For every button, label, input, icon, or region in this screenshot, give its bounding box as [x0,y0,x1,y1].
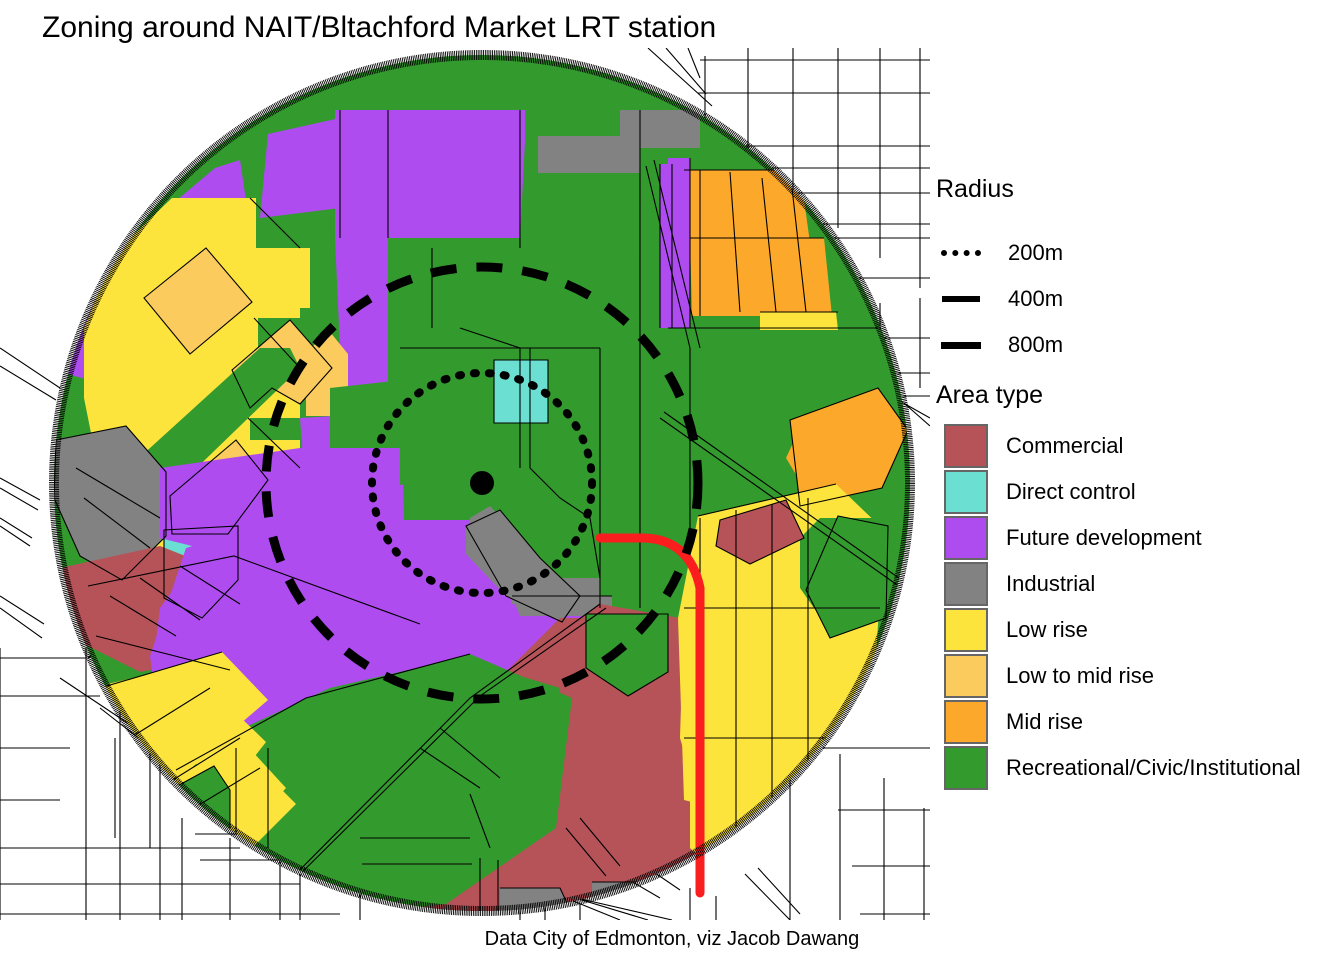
legend-item-low-to-mid-rise[interactable]: Low to mid rise [930,653,1154,699]
legend-item-industrial[interactable]: Industrial [930,561,1095,607]
legend-label-mid-rise: Mid rise [1006,709,1083,735]
swatch-commercial [944,424,988,468]
swatch-mid-rise [944,700,988,744]
zone-directcontrol-center [494,360,548,423]
zone-lowrise-ne-strip [760,312,838,330]
swatch-low-to-mid-rise [944,654,988,698]
zone-industrial-ne [620,110,700,148]
radius-key-400m-icon [930,276,992,322]
legend-item-recreational[interactable]: Recreational/Civic/Institutional [930,745,1301,791]
zone-future-ne2 [660,164,672,328]
swatch-direct-control [944,470,988,514]
legend-label-future-development: Future development [1006,525,1202,551]
swatch-industrial [944,562,988,606]
source-caption: Data City of Edmonton, viz Jacob Dawang [0,928,1344,951]
swatch-recreational [944,746,988,790]
legend-item-low-rise[interactable]: Low rise [930,607,1088,653]
legend-label-radius-200m: 200m [1008,240,1063,266]
legend-label-radius-400m: 400m [1008,286,1063,312]
swatch-future-development [944,516,988,560]
legend-item-direct-control[interactable]: Direct control [930,469,1136,515]
zone-midrise-ne3 [690,238,832,316]
radius-key-800m-icon [930,322,992,368]
legend-item-radius-200m[interactable]: 200m [930,230,1063,276]
map-canvas[interactable] [0,48,930,920]
legend-label-industrial: Industrial [1006,571,1095,597]
legend-item-commercial[interactable]: Commercial [930,423,1123,469]
legend-item-radius-800m[interactable]: 800m [930,322,1063,368]
legend-title-radius: Radius [936,175,1014,204]
legend-item-future-development[interactable]: Future development [930,515,1202,561]
legend-label-low-rise: Low rise [1006,617,1088,643]
page-title: Zoning around NAIT/Bltachford Market LRT… [42,11,716,45]
legend-label-recreational: Recreational/Civic/Institutional [1006,755,1301,781]
legend-label-commercial: Commercial [1006,433,1123,459]
legend-item-radius-400m[interactable]: 400m [930,276,1063,322]
swatch-low-rise [944,608,988,652]
legend-label-low-to-mid-rise: Low to mid rise [1006,663,1154,689]
legend-item-mid-rise[interactable]: Mid rise [930,699,1083,745]
legend-label-direct-control: Direct control [1006,479,1136,505]
legend-title-area-type: Area type [936,381,1043,410]
radius-key-200m-icon [930,230,992,276]
legend-panel: Radius 200m 400m 800m Area type Commerci… [930,48,1344,920]
legend-label-radius-800m: 800m [1008,332,1063,358]
lrt-station-dot[interactable] [470,471,494,495]
